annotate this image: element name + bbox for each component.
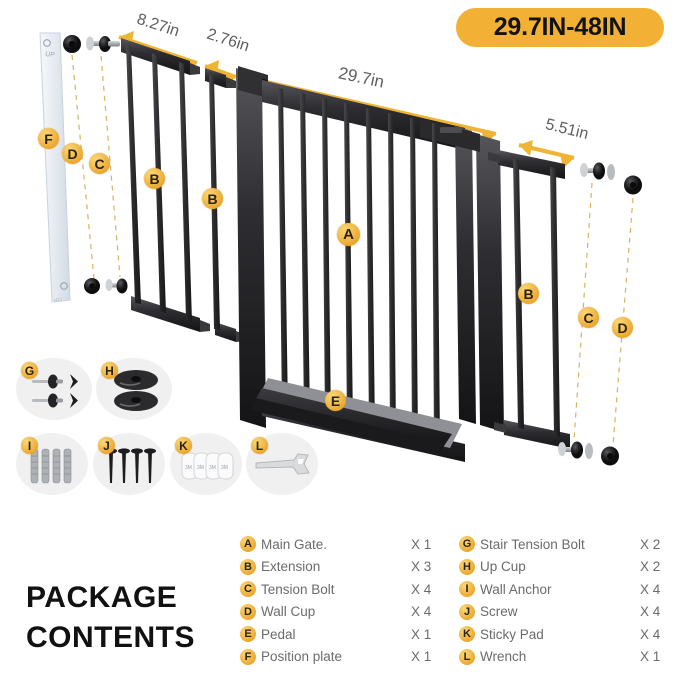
part-letter-badge: E xyxy=(240,626,256,642)
part-name: Tension Bolt xyxy=(261,582,407,597)
part-qty: X 4 xyxy=(640,604,674,619)
marker-c-tension-bolt-right: C xyxy=(578,307,599,328)
wall-cup-right-top xyxy=(624,176,642,195)
thumb-stair-tension-bolt: G xyxy=(16,358,92,420)
part-name: Up Cup xyxy=(480,559,640,574)
list-item: G Stair Tension Bolt X 2 xyxy=(459,533,674,556)
position-plate-part: UP UP xyxy=(40,33,70,302)
part-qty: X 4 xyxy=(640,627,674,642)
tension-bolt-right-top xyxy=(580,163,615,181)
wall-cup-left-top xyxy=(63,35,81,53)
part-name: Position plate xyxy=(261,649,407,664)
svg-text:UP: UP xyxy=(45,51,56,59)
list-item: F Position plate X 1 xyxy=(240,646,445,669)
part-qty: X 3 xyxy=(411,559,445,574)
part-name: Wall Cup xyxy=(261,604,407,619)
product-diagram-page: UP UP xyxy=(0,0,679,679)
parts-list-left: A Main Gate. X 1 B Extension X 3 C Tensi… xyxy=(240,533,445,668)
parts-list-right: G Stair Tension Bolt X 2 H Up Cup X 2 I … xyxy=(459,533,674,668)
part-letter-badge: G xyxy=(459,536,475,552)
part-qty: X 1 xyxy=(411,627,445,642)
part-name: Pedal xyxy=(261,627,407,642)
tension-bolt-right-bottom xyxy=(558,442,593,460)
list-item: E Pedal X 1 xyxy=(240,623,445,646)
thumb-letter-i: I xyxy=(21,437,38,454)
part-qty: X 1 xyxy=(411,649,445,664)
part-name: Screw xyxy=(480,604,640,619)
part-letter-badge: D xyxy=(240,604,256,620)
marker-e-pedal: E xyxy=(325,390,346,411)
wall-cup-right-bottom xyxy=(601,447,619,466)
thumb-letter-g: G xyxy=(21,362,38,379)
part-name: Stair Tension Bolt xyxy=(480,537,640,552)
list-item: B Extension X 3 xyxy=(240,556,445,579)
list-item: L Wrench X 1 xyxy=(459,646,674,669)
svg-text:3M: 3M xyxy=(209,465,216,471)
part-letter-badge: K xyxy=(459,626,475,642)
marker-a-main-gate: A xyxy=(337,223,360,246)
svg-text:3M: 3M xyxy=(185,465,192,471)
wall-cup-left-bottom xyxy=(84,278,100,294)
thumb-screw: J xyxy=(93,433,165,495)
part-name: Sticky Pad xyxy=(480,627,640,642)
tension-bolt-left-bottom xyxy=(105,279,127,294)
part-letter-badge: F xyxy=(240,649,256,665)
thumb-sticky-pad: 3M3M 3M3M K xyxy=(170,433,242,495)
part-name: Extension xyxy=(261,559,407,574)
page-title-line1: PACKAGE xyxy=(26,578,195,618)
marker-d-wall-cup-right: D xyxy=(612,317,633,338)
list-item: K Sticky Pad X 4 xyxy=(459,623,674,646)
part-qty: X 1 xyxy=(640,649,674,664)
svg-text:3M: 3M xyxy=(221,465,228,471)
part-letter-badge: I xyxy=(459,581,475,597)
svg-text:UP: UP xyxy=(53,295,62,302)
thumb-letter-h: H xyxy=(101,362,118,379)
list-item: A Main Gate. X 1 xyxy=(240,533,445,556)
part-letter-badge: A xyxy=(240,536,256,552)
size-range-badge: 29.7IN-48IN xyxy=(456,8,664,47)
thumb-letter-l: L xyxy=(251,437,268,454)
list-item: C Tension Bolt X 4 xyxy=(240,578,445,601)
part-qty: X 4 xyxy=(411,582,445,597)
marker-b-extension-wide: B xyxy=(144,168,165,189)
tension-bolt-left-top xyxy=(86,36,120,52)
part-letter-badge: H xyxy=(459,559,475,575)
page-title-line2: CONTENTS xyxy=(26,618,195,658)
list-item: H Up Cup X 2 xyxy=(459,556,674,579)
thumb-letter-k: K xyxy=(175,437,192,454)
part-name: Main Gate. xyxy=(261,537,407,552)
marker-f-position-plate: F xyxy=(38,128,59,149)
thumb-wrench: L xyxy=(246,433,318,495)
part-name: Wall Anchor xyxy=(480,582,640,597)
part-name: Wrench xyxy=(480,649,640,664)
part-letter-badge: B xyxy=(240,559,256,575)
thumb-up-cup: H xyxy=(96,358,172,420)
list-item: I Wall Anchor X 4 xyxy=(459,578,674,601)
part-letter-badge: J xyxy=(459,604,475,620)
list-item: J Screw X 4 xyxy=(459,601,674,624)
marker-d-wall-cup-left: D xyxy=(62,143,83,164)
svg-text:3M: 3M xyxy=(197,465,204,471)
thumb-letter-j: J xyxy=(98,437,115,454)
part-qty: X 2 xyxy=(640,537,674,552)
part-qty: X 4 xyxy=(411,604,445,619)
extension-panel-wide xyxy=(121,38,210,332)
part-letter-badge: C xyxy=(240,581,256,597)
list-item: D Wall Cup X 4 xyxy=(240,601,445,624)
page-title: PACKAGE CONTENTS xyxy=(26,578,195,657)
part-qty: X 1 xyxy=(411,537,445,552)
marker-b-extension-right: B xyxy=(518,283,539,304)
part-qty: X 4 xyxy=(640,582,674,597)
part-letter-badge: L xyxy=(459,649,475,665)
marker-b-extension-narrow: B xyxy=(202,188,223,209)
part-qty: X 2 xyxy=(640,559,674,574)
thumb-wall-anchor: I xyxy=(16,433,88,495)
marker-c-tension-bolt-left: C xyxy=(89,153,110,174)
